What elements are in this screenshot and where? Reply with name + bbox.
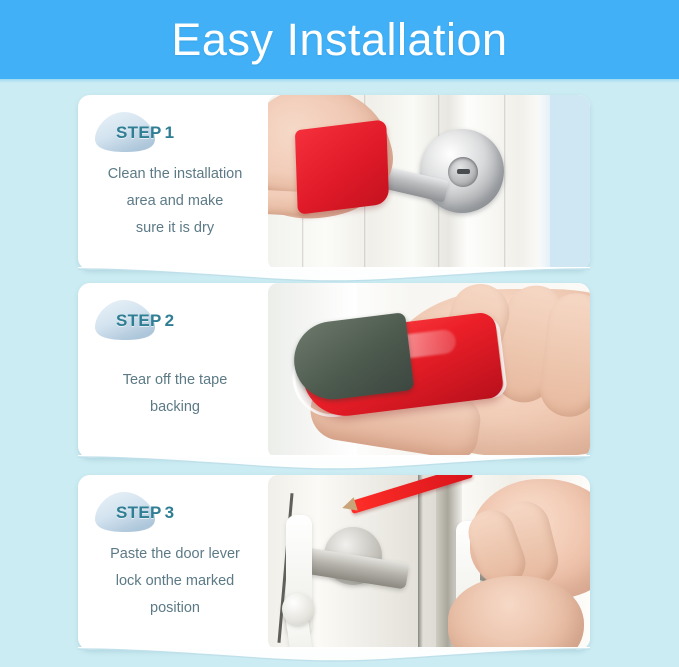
step-2-desc-line-1: Tear off the tape [92, 367, 258, 394]
door-edge-shadow [418, 475, 423, 650]
step-1-photo-pane [268, 95, 590, 270]
step-2-label: STEP2 [116, 311, 174, 331]
step-3-description: Paste the door lever lock onthe marked p… [88, 541, 262, 621]
header-banner: Easy Installation [0, 0, 679, 79]
lock-key-slot [457, 169, 470, 174]
step-3-desc-line-1: Paste the door lever [92, 541, 258, 568]
step-card-1: STEP1 Clean the installation area and ma… [78, 95, 590, 270]
photo-1-fade [538, 95, 550, 270]
step-3-desc-line-2: lock onthe marked [92, 568, 258, 595]
photo-1-blue-strip [550, 95, 590, 270]
left-lock-knob [282, 593, 314, 625]
step-card-1-inner: STEP1 Clean the installation area and ma… [78, 95, 590, 270]
step-2-label-group: STEP2 [94, 299, 262, 341]
red-cleaning-cloth [295, 119, 389, 214]
step-card-2: STEP2 Tear off the tape backing [78, 283, 590, 458]
infographic-page: Easy Installation [0, 0, 679, 667]
step-1-label-number: 1 [165, 123, 175, 142]
step-card-3-inner: STEP3 Paste the door lever lock onthe ma… [78, 475, 590, 650]
step-3-label-word: STEP [116, 503, 162, 522]
step-1-desc-line-2: area and make [92, 188, 258, 215]
step-1-label: STEP1 [116, 123, 174, 143]
step-2-photo-pane [268, 283, 590, 458]
step-3-photo-pane [268, 475, 590, 650]
step-2-photo [268, 283, 590, 458]
step-1-label-group: STEP1 [94, 111, 262, 153]
step-2-description: Tear off the tape backing [88, 367, 262, 421]
page-title: Easy Installation [171, 17, 507, 62]
banner-bottom-edge [0, 79, 679, 83]
step-1-photo [268, 95, 590, 270]
step-card-2-inner: STEP2 Tear off the tape backing [78, 283, 590, 458]
step-2-desc-line-2: backing [92, 394, 258, 421]
step-2-label-word: STEP [116, 311, 162, 330]
step-3-label-group: STEP3 [94, 491, 262, 533]
step-3-label: STEP3 [116, 503, 174, 523]
step-3-desc-line-3: position [92, 595, 258, 622]
step-card-3: STEP3 Paste the door lever lock onthe ma… [78, 475, 590, 650]
step-3-photo [268, 475, 590, 650]
step-3-label-number: 3 [165, 503, 175, 522]
step-1-description: Clean the installation area and make sur… [88, 161, 262, 241]
step-1-text-pane: STEP1 Clean the installation area and ma… [78, 95, 268, 270]
step-1-desc-line-1: Clean the installation [92, 161, 258, 188]
step-2-label-number: 2 [165, 311, 175, 330]
step-2-text-pane: STEP2 Tear off the tape backing [78, 283, 268, 458]
step-1-label-word: STEP [116, 123, 162, 142]
step-3-text-pane: STEP3 Paste the door lever lock onthe ma… [78, 475, 268, 650]
step-1-desc-line-3: sure it is dry [92, 215, 258, 242]
